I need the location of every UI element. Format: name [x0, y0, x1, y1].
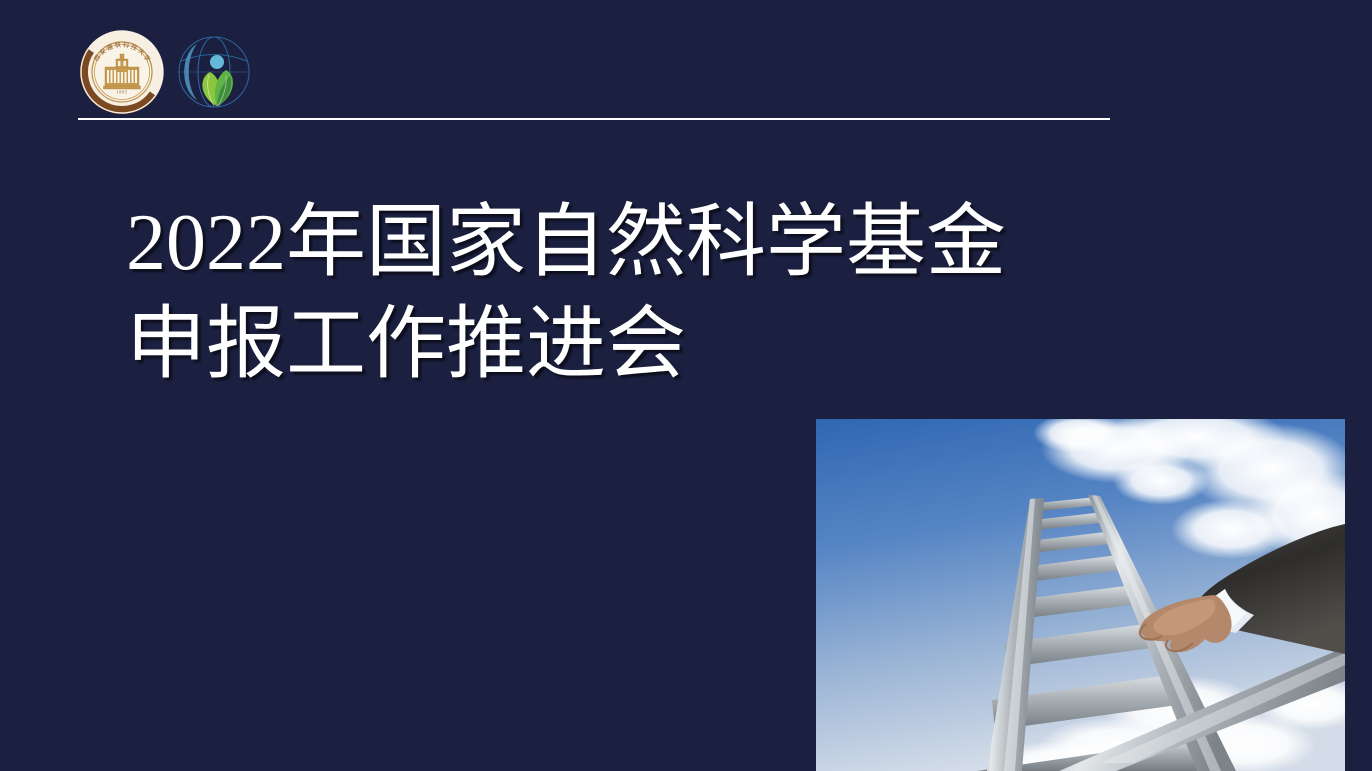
- presentation-slide: 西 安 建 筑 科 技 大 学 XI'AN UNIVERSITY OF ARCH…: [0, 0, 1372, 771]
- eco-globe-logo: [170, 28, 258, 116]
- header-divider-line: [78, 118, 1110, 120]
- university-seal-logo: 西 安 建 筑 科 技 大 学 XI'AN UNIVERSITY OF ARCH…: [78, 28, 166, 116]
- svg-text:1895: 1895: [116, 90, 127, 95]
- title-line-2: 申报工作推进会: [126, 294, 1246, 396]
- title-line-1: 2022年国家自然科学基金: [126, 192, 1246, 294]
- logo-bar: 西 安 建 筑 科 技 大 学 XI'AN UNIVERSITY OF ARCH…: [78, 28, 1110, 120]
- slide-title: 2022年国家自然科学基金 申报工作推进会: [126, 192, 1246, 396]
- ladder-to-sky-photo: [816, 419, 1345, 771]
